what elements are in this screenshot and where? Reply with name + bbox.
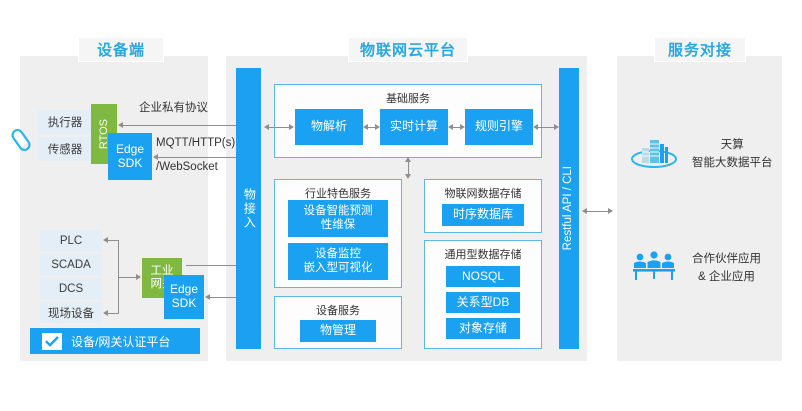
service-entry-bigdata: 天算 智能大数据平台 (630, 135, 773, 174)
edge-sdk-bottom-line2: SDK (172, 297, 197, 311)
industrial-item-field-device: 现场设备 (40, 302, 102, 323)
industrial-item-plc: PLC (40, 230, 102, 251)
edge-sdk-bottom-box: Edge SDK (164, 275, 204, 319)
edge-sdk-bottom-line1: Edge (170, 283, 198, 297)
base-service-item-rule-engine: 规则引擎 (465, 109, 533, 145)
panel-service-docking (617, 56, 782, 361)
general-storage-item-nosql: NOSQL (446, 266, 520, 287)
edge-sdk-top-box: Edge SDK (108, 133, 152, 180)
arrow-mqtt-left (153, 154, 158, 160)
connector-ingest-to-base (268, 127, 290, 128)
arrow-industry-up (405, 157, 411, 162)
iot-storage-item-timeseries-db: 时序数据库 (442, 204, 524, 226)
arrow-compute-left (448, 124, 453, 130)
label-websocket: /WebSocket (156, 161, 218, 173)
service-bigdata-line1: 天算 (692, 137, 773, 154)
arrow-industry-down (405, 174, 411, 179)
panel-title-cloud-platform: 物联网云平台 (348, 37, 468, 62)
industrial-item-scada: SCADA (40, 254, 102, 275)
general-storage-item-object-storage: 对象存储 (446, 318, 520, 339)
industry-service-title: 行业特色服务 (275, 185, 401, 201)
service-entry-partners-text: 合作伙伴应用 & 企业应用 (692, 251, 761, 286)
device-endpoint-actuator: 执行器 (38, 110, 92, 134)
arrow-base-out-right (554, 124, 559, 130)
service-bigdata-line2: 智能大数据平台 (692, 155, 773, 172)
connector-plc-branch (107, 240, 119, 241)
label-private-protocol: 企业私有协议 (139, 99, 208, 115)
industry-service-item-device-monitoring: 设备监控 嵌入型可视化 (288, 243, 388, 280)
arrow-private-left (118, 122, 123, 128)
service-entry-partners: 合作伙伴应用 & 企业应用 (630, 250, 761, 287)
arrow-field-device (103, 310, 108, 316)
auth-platform-label: 设备/网关认证平台 (71, 333, 170, 350)
ingest-bar-label: 物接入 (242, 188, 256, 230)
label-mqtt-http: MQTT/HTTP(s) (156, 137, 235, 149)
base-service-item-realtime-compute: 实时计算 (380, 109, 448, 145)
arrow-compute-right (375, 124, 380, 130)
industry-item-1-line2: 嵌入型可视化 (304, 262, 373, 275)
connector-field-branch (107, 313, 119, 314)
industry-item-0-line2: 性维保 (321, 219, 356, 232)
iot-storage-title: 物联网数据存储 (425, 185, 541, 201)
arrow-plc (103, 237, 108, 243)
arrow-base-in-right (289, 124, 294, 130)
arrow-edgesdk-left (205, 294, 210, 300)
service-entry-bigdata-text: 天算 智能大数据平台 (692, 137, 773, 172)
base-service-item-thing-parse: 物解析 (295, 109, 363, 145)
general-storage-item-relational-db: 关系型DB (446, 292, 520, 313)
connector-mqtt (157, 157, 240, 158)
arrow-rule-right (460, 124, 465, 130)
connector-gateway-to-ingest (186, 265, 240, 266)
paperclip-icon (8, 125, 34, 155)
device-service-title: 设备服务 (275, 302, 401, 318)
partners-meeting-icon (630, 250, 678, 287)
connector-bracket-to-gateway (118, 277, 137, 278)
device-service-item-thing-management: 物管理 (300, 320, 376, 342)
arrow-parse-left (363, 124, 368, 130)
panel-title-device-side: 设备端 (78, 37, 164, 62)
general-storage-title: 通用型数据存储 (425, 246, 541, 262)
industrial-item-dcs: DCS (40, 278, 102, 299)
restful-api-bar: Restful API / CLI (559, 68, 579, 349)
service-partners-line2: & 企业应用 (692, 269, 761, 286)
arrow-base-out-left (533, 124, 538, 130)
restful-api-label: Restful API / CLI (562, 166, 575, 250)
arrow-service-left (582, 208, 587, 214)
device-endpoint-sensor: 传感器 (38, 137, 92, 161)
connector-private-protocol (122, 125, 240, 126)
edge-sdk-top-line2: SDK (118, 157, 143, 171)
base-service-title: 基础服务 (275, 90, 541, 106)
panel-title-service-docking: 服务对接 (654, 37, 746, 62)
industry-item-0-line1: 设备智能预测 (304, 205, 373, 218)
service-partners-line1: 合作伙伴应用 (692, 251, 761, 268)
ingest-bar: 物接入 (236, 68, 261, 349)
industry-service-item-predictive-maintenance: 设备智能预测 性维保 (288, 200, 388, 237)
arrow-base-in-left (264, 124, 269, 130)
arrow-service-right (608, 208, 613, 214)
check-icon (42, 333, 62, 350)
industry-item-1-line1: 设备监控 (315, 248, 361, 261)
auth-platform-bar: 设备/网关认证平台 (30, 328, 200, 354)
edge-sdk-top-line1: Edge (116, 143, 144, 157)
bigdata-building-icon (630, 135, 678, 174)
arrow-to-gateway (136, 274, 141, 280)
architecture-diagram: 设备端 物联网云平台 服务对接 执行器 传感器 RTOS Edge SDK 企业… (0, 0, 802, 411)
